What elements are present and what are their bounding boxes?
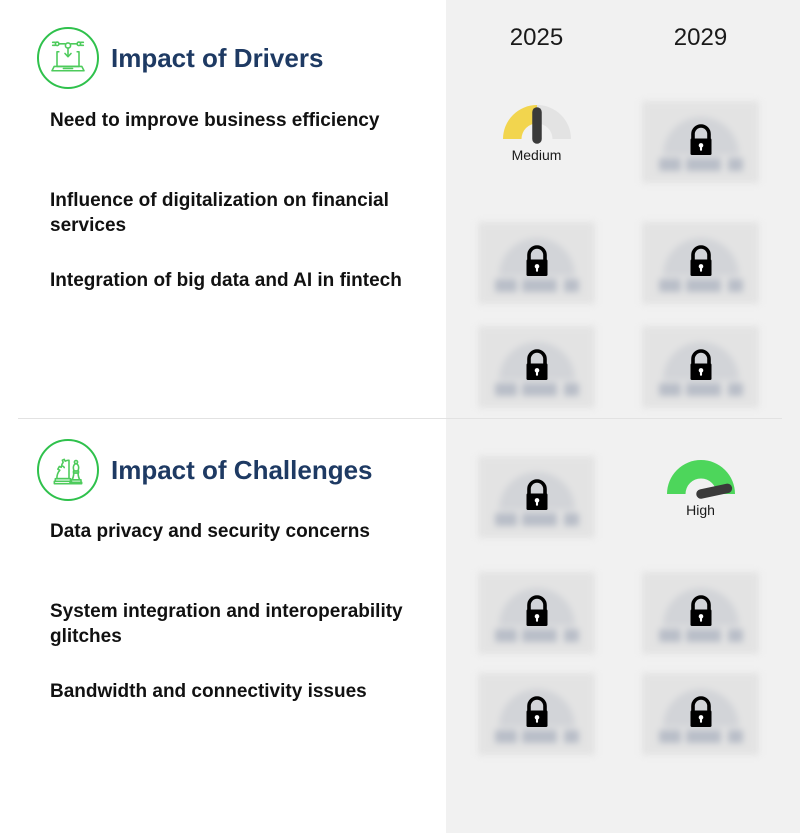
- gauge: Medium: [478, 101, 595, 183]
- gauge: High: [642, 456, 759, 538]
- list-item: Bandwidth and connectivity issues: [50, 679, 430, 759]
- padlock-icon: [683, 593, 719, 633]
- gauge-cell[interactable]: High: [642, 456, 759, 538]
- impact-matrix-page: 2025 2029 Impact of Drivers: [0, 0, 800, 833]
- padlock-icon: [519, 347, 555, 387]
- locked-cell[interactable]: [642, 673, 759, 755]
- locked-cell[interactable]: [478, 572, 595, 654]
- padlock-icon: [519, 694, 555, 734]
- section-title: Impact of Challenges: [111, 455, 373, 486]
- padlock-icon: [519, 477, 555, 517]
- list-item: Data privacy and security concerns: [50, 519, 430, 599]
- column-header-2029: 2029: [642, 24, 759, 52]
- locked-cell[interactable]: [478, 673, 595, 755]
- locked-cell[interactable]: [478, 222, 595, 304]
- padlock-icon: [683, 243, 719, 283]
- column-header-2025: 2025: [478, 24, 595, 52]
- padlock-icon: [519, 243, 555, 283]
- locked-cell[interactable]: [478, 326, 595, 408]
- chess-pieces-icon: [37, 439, 99, 501]
- section-divider: [18, 418, 782, 419]
- gauge-dial: [497, 101, 577, 145]
- locked-cell[interactable]: [642, 222, 759, 304]
- list-item: System integration and interoperability …: [50, 599, 430, 679]
- challenge-list: Data privacy and security concerns Syste…: [50, 519, 430, 759]
- list-item: Influence of digitalization on financial…: [50, 188, 430, 268]
- locked-cell[interactable]: [478, 456, 595, 538]
- gauge-dial: [661, 456, 741, 500]
- gauge-level-label: Medium: [512, 147, 562, 163]
- locked-cell[interactable]: [642, 101, 759, 183]
- gauge-level-label: High: [686, 502, 715, 518]
- padlock-icon: [683, 347, 719, 387]
- section-header: Impact of Challenges: [37, 439, 373, 501]
- padlock-icon: [683, 694, 719, 734]
- section-header: Impact of Drivers: [37, 27, 323, 89]
- list-item: Integration of big data and AI in fintec…: [50, 268, 430, 348]
- locked-cell[interactable]: [642, 326, 759, 408]
- list-item: Need to improve business efficiency: [50, 108, 430, 188]
- laptop-network-download-icon: [37, 27, 99, 89]
- padlock-icon: [683, 122, 719, 162]
- gauge-cell[interactable]: Medium: [478, 101, 595, 183]
- driver-list: Need to improve business efficiency Infl…: [50, 108, 430, 348]
- locked-cell[interactable]: [642, 572, 759, 654]
- padlock-icon: [519, 593, 555, 633]
- section-title: Impact of Drivers: [111, 43, 323, 74]
